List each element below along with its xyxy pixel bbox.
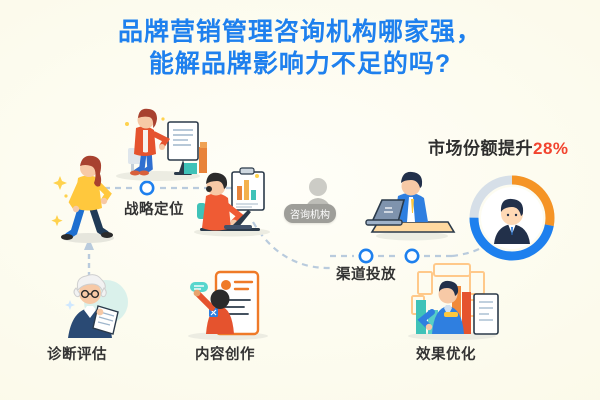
agency-chip-label: 咨询机构	[284, 204, 336, 223]
market-share-donut-chart	[466, 172, 558, 264]
flow-label-content: 内容创作	[195, 343, 255, 364]
flow-node[interactable]	[406, 250, 418, 262]
dashed-path-curve-center	[253, 222, 330, 268]
flow-label-effect: 效果优化	[416, 343, 476, 364]
flow-label-channel: 渠道投放	[336, 263, 396, 284]
flow-node[interactable]	[141, 182, 153, 194]
flow-node[interactable]	[360, 250, 372, 262]
donut-svg	[466, 172, 558, 264]
flow-label-diagnose: 诊断评估	[47, 343, 107, 364]
arrow-diagnose-to-strategy	[84, 238, 94, 286]
dashed-path-left	[104, 183, 246, 193]
consulting-agency-node[interactable]: 咨询机构	[288, 176, 348, 228]
flow-label-strategy: 战略定位	[124, 198, 184, 219]
infographic-canvas: 品牌营销管理咨询机构哪家强， 能解品牌影响力不足的吗? 市场份额提升28%	[0, 0, 600, 400]
